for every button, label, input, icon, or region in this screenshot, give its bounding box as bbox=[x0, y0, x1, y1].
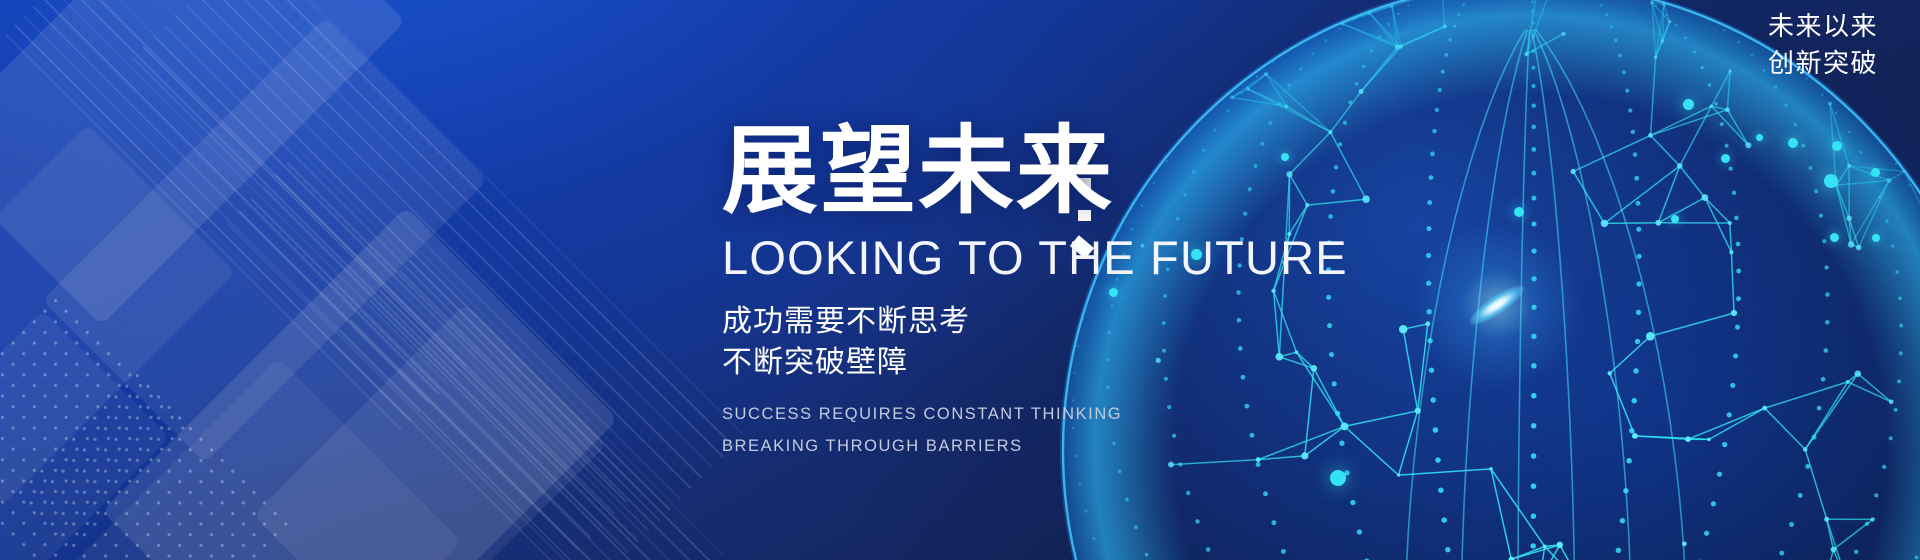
decor-dot-grid-1 bbox=[10, 365, 300, 560]
decor-rect-2 bbox=[0, 124, 236, 506]
decor-rect-4 bbox=[253, 303, 607, 560]
subtitle-english-2: BREAKING THROUGH BARRIERS bbox=[722, 430, 1348, 462]
headline-chinese: 展望未来 bbox=[722, 124, 1348, 220]
subtitle-chinese-1: 成功需要不断思考 bbox=[722, 301, 1348, 342]
decor-rect-0 bbox=[0, 0, 405, 325]
decor-rect-1 bbox=[42, 17, 487, 462]
corner-slogan: 未来以来 创新突破 bbox=[1768, 8, 1878, 82]
corner-slogan-line-1: 未来以来 bbox=[1768, 8, 1878, 45]
headline-english: LOOKING TO THE FUTURE bbox=[722, 234, 1348, 281]
decor-rect-3 bbox=[102, 207, 618, 560]
decor-line-bundle-1 bbox=[123, 0, 745, 560]
decor-line-bundle-3 bbox=[321, 250, 724, 560]
subtitle-chinese-2: 不断突破壁障 bbox=[722, 342, 1348, 383]
decor-rect-6 bbox=[38, 358, 462, 560]
headline-block: 展望未来 LOOKING TO THE FUTURE 成功需要不断思考 不断突破… bbox=[722, 124, 1348, 462]
decor-line-bundle-2 bbox=[216, 150, 640, 560]
subtitle-english-1: SUCCESS REQUIRES CONSTANT THINKING bbox=[722, 398, 1348, 430]
hero-banner: 展望未来 LOOKING TO THE FUTURE 成功需要不断思考 不断突破… bbox=[0, 0, 1920, 560]
decor-rect-5 bbox=[0, 310, 170, 560]
decor-line-bundle-0 bbox=[0, 0, 476, 439]
corner-slogan-line-2: 创新突破 bbox=[1768, 45, 1878, 82]
decor-dot-grid-0 bbox=[0, 290, 197, 560]
